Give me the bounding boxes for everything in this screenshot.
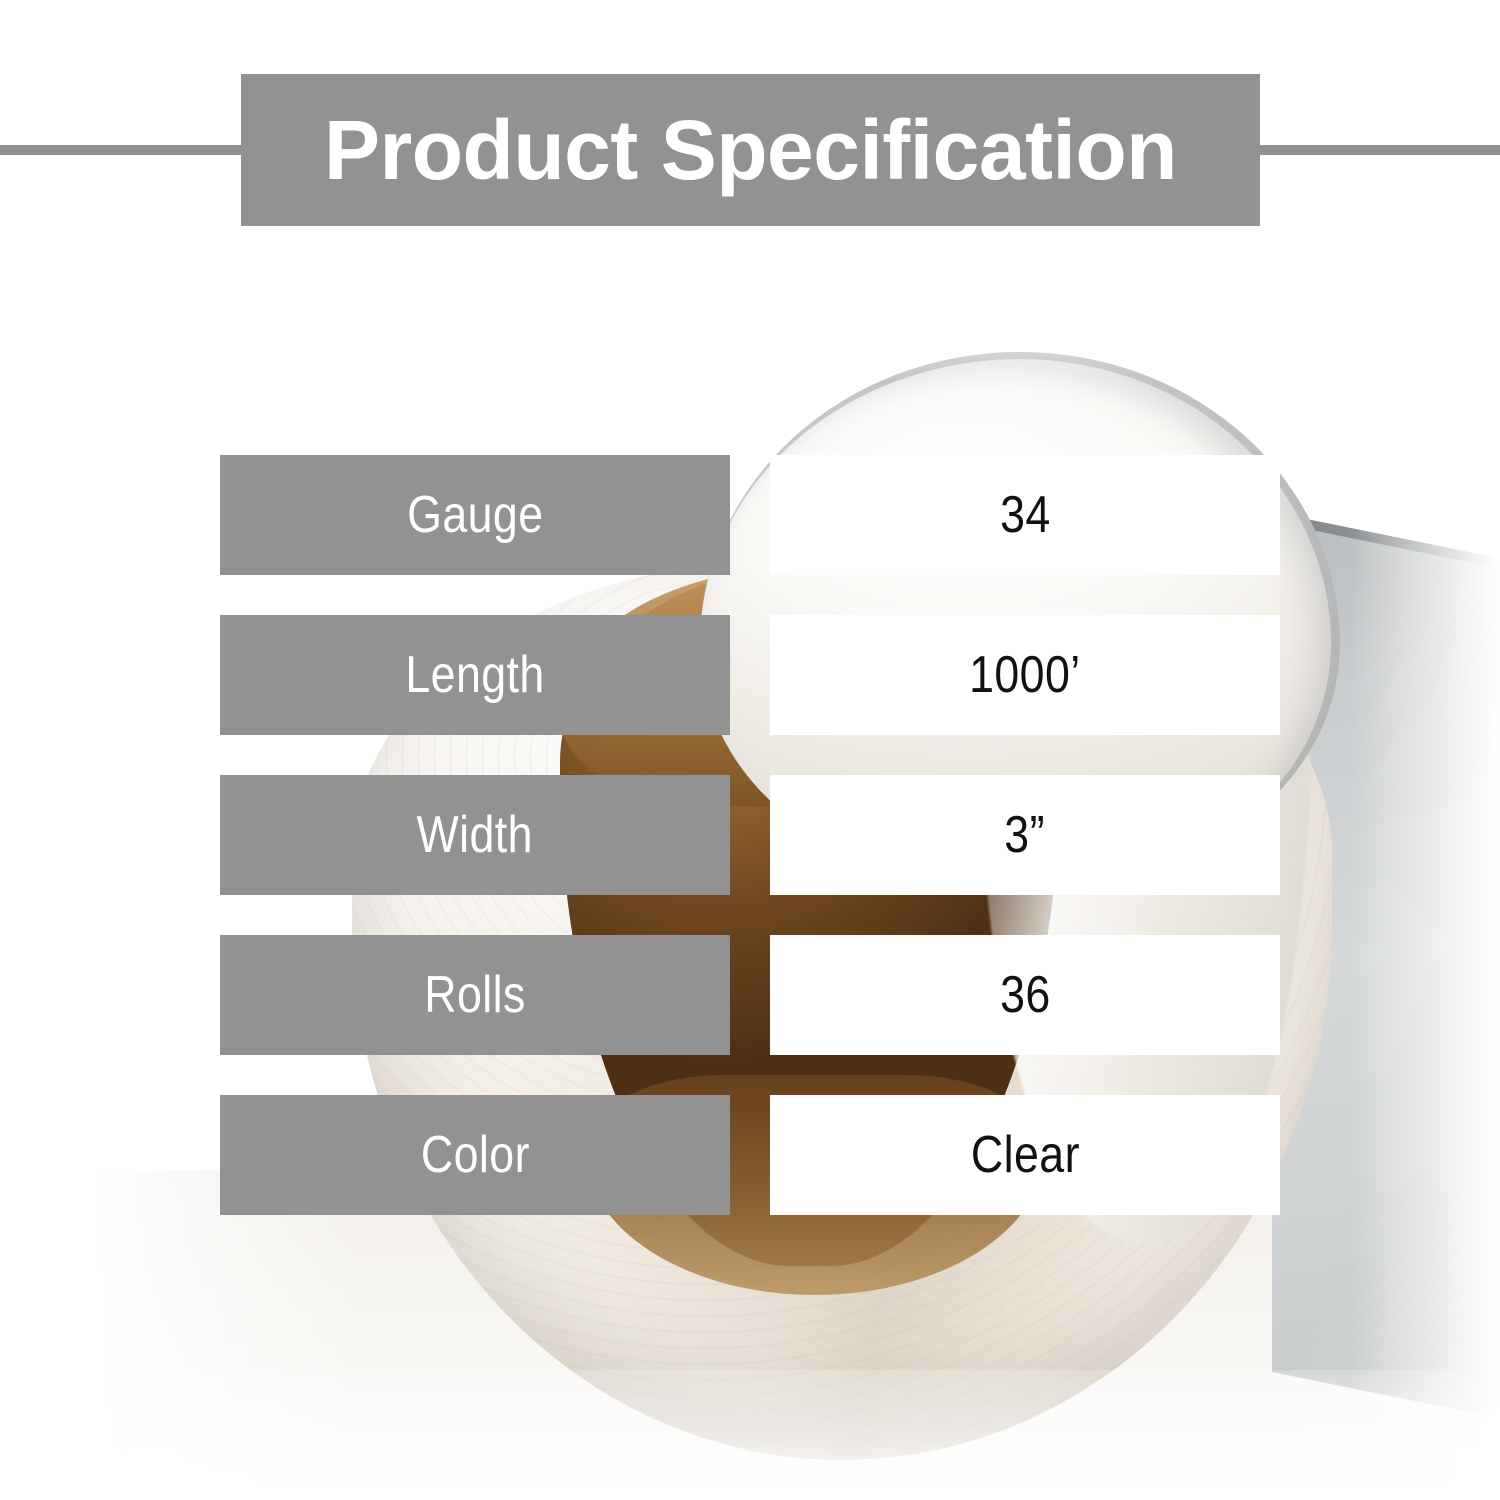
- spec-value-cell: 1000’: [770, 615, 1280, 735]
- table-row: Width 3”: [0, 775, 1500, 895]
- spec-label-cell: Length: [220, 615, 730, 735]
- spec-value-cell: 36: [770, 935, 1280, 1055]
- spec-value-cell: 3”: [770, 775, 1280, 895]
- specification-table: Gauge 34 Length 1000’ Width 3” Rolls 36 …: [0, 0, 1500, 1500]
- table-row: Length 1000’: [0, 615, 1500, 735]
- spec-label-cell: Color: [220, 1095, 730, 1215]
- spec-value-text: 36: [1000, 965, 1051, 1025]
- spec-value-text: 3”: [1005, 805, 1046, 865]
- spec-label-text: Gauge: [407, 485, 543, 545]
- spec-label-cell: Rolls: [220, 935, 730, 1055]
- spec-value-cell: 34: [770, 455, 1280, 575]
- table-row: Rolls 36: [0, 935, 1500, 1055]
- spec-label-text: Rolls: [424, 965, 526, 1025]
- spec-value-text: 1000’: [969, 645, 1081, 705]
- spec-value-text: 34: [1000, 485, 1051, 545]
- spec-value-text: Clear: [970, 1125, 1079, 1185]
- spec-label-text: Color: [420, 1125, 529, 1185]
- table-row: Gauge 34: [0, 455, 1500, 575]
- spec-label-text: Length: [405, 645, 544, 705]
- spec-value-cell: Clear: [770, 1095, 1280, 1215]
- spec-label-cell: Gauge: [220, 455, 730, 575]
- spec-label-cell: Width: [220, 775, 730, 895]
- spec-label-text: Width: [417, 805, 533, 865]
- table-row: Color Clear: [0, 1095, 1500, 1215]
